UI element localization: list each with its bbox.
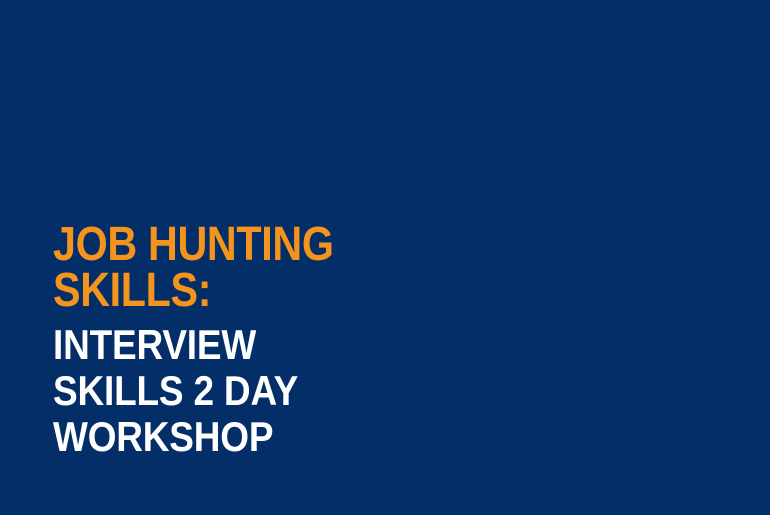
headline-group: JOB HUNTING SKILLS: xyxy=(53,222,553,314)
subheadline-line-3: WORKSHOP xyxy=(53,414,493,460)
headline-line-2: SKILLS: xyxy=(53,268,483,314)
headline-line-1: JOB HUNTING xyxy=(53,222,483,268)
title-block: JOB HUNTING SKILLS: INTERVIEW SKILLS 2 D… xyxy=(53,222,553,460)
subheadline-group: INTERVIEW SKILLS 2 DAY WORKSHOP xyxy=(53,322,553,460)
title-slide: JOB HUNTING SKILLS: INTERVIEW SKILLS 2 D… xyxy=(0,0,770,515)
subheadline-line-2: SKILLS 2 DAY xyxy=(53,368,493,414)
subheadline-line-1: INTERVIEW xyxy=(53,322,493,368)
